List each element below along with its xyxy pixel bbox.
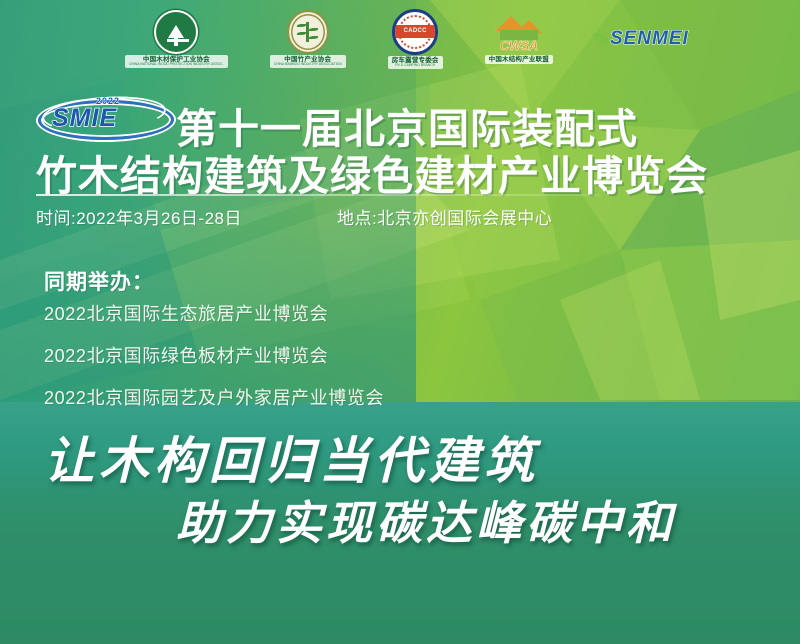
cwsa-house-icon: CWSA: [490, 14, 548, 54]
cadcc-abbr: CADCC: [404, 28, 427, 34]
event-date: 时间:2022年3月26日-28日: [36, 204, 242, 229]
title-divider: [36, 194, 601, 196]
page-title-line2: 竹木结构建筑及绿色建材产业博览会: [36, 142, 708, 202]
event-venue: 地点:北京亦创国际会展中心: [337, 204, 552, 229]
bamboo-association-logo: 中国竹产业协会 CHINA BAMBOO INDUSTRY ASSOCIATIO…: [270, 10, 346, 68]
cwsa-label-cn: 中国木结构产业联盟: [489, 56, 549, 63]
cwsa-label: 中国木结构产业联盟: [485, 55, 553, 64]
list-item: 2022北京国际园艺及户外家居产业博览会: [44, 384, 384, 410]
cwsa-logo: CWSA 中国木结构产业联盟: [485, 14, 553, 64]
smie-wordmark: SMIE: [52, 104, 117, 133]
slogan-line1: 让木构回归当代建筑: [44, 421, 539, 493]
list-item: 2022北京国际绿色板材产业博览会: [44, 342, 384, 368]
bamboo-seal-icon: [287, 10, 329, 54]
concurrent-events-heading: 同期举办：: [44, 266, 154, 296]
bamboo-label-en: CHINA BAMBOO INDUSTRY ASSOCIATION: [274, 63, 342, 67]
cnwpia-label-en: CHINA NATIONAL WOOD PROTECTION INDUSTRY …: [129, 63, 224, 67]
smie-brand-logo: 2022 SMIE: [38, 96, 170, 138]
exhibition-poster: 中国木材保护工业协会 CHINA NATIONAL WOOD PROTECTIO…: [0, 0, 800, 644]
cadcc-badge-icon: CADCC: [392, 9, 438, 55]
leaf-icon: [593, 29, 611, 49]
organizer-logo-bar: 中国木材保护工业协会 CHINA NATIONAL WOOD PROTECTIO…: [0, 0, 800, 78]
senmei-wordmark-icon: SENMEI: [595, 24, 695, 54]
cadcc-label-en: RV & CAMPING BRANCH: [392, 64, 439, 68]
list-item: 2022北京国际生态旅居产业博览会: [44, 300, 384, 326]
concurrent-events-list: 2022北京国际生态旅居产业博览会 2022北京国际绿色板材产业博览会 2022…: [44, 300, 384, 426]
cnwpia-label: 中国木材保护工业协会 CHINA NATIONAL WOOD PROTECTIO…: [125, 55, 228, 68]
cadcc-label: 房车露营专委会 RV & CAMPING BRANCH: [388, 56, 443, 69]
senmei-logo: SENMEI: [595, 24, 695, 54]
cnwpia-logo: 中国木材保护工业协会 CHINA NATIONAL WOOD PROTECTIO…: [125, 10, 228, 68]
slogan-line2: 助力实现碳达峰碳中和: [176, 487, 676, 553]
bamboo-association-label: 中国竹产业协会 CHINA BAMBOO INDUSTRY ASSOCIATIO…: [270, 55, 346, 68]
cnwpia-seal-icon: [154, 10, 198, 54]
senmei-abbr: SENMEI: [610, 28, 689, 50]
cwsa-abbr: CWSA: [490, 38, 548, 53]
cadcc-logo: CADCC 房车露营专委会 RV & CAMPING BRANCH: [388, 9, 443, 69]
